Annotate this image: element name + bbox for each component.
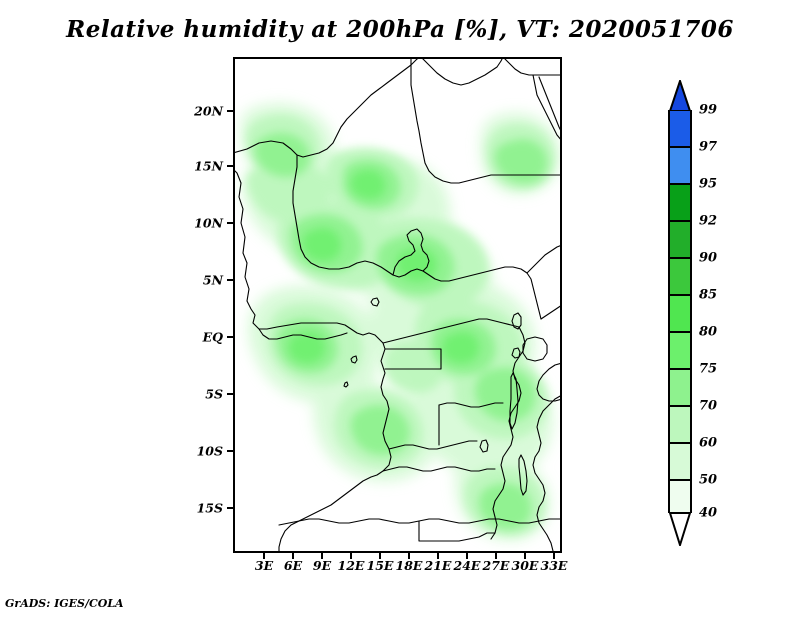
y-axis-label-20n: 20N [178,104,223,119]
y-tick [227,165,233,167]
x-axis-label-33e: 33E [532,558,576,573]
colorbar-band-60-70[interactable] [668,406,692,443]
y-tick [227,279,233,281]
credit-text: GrADS: IGES/COLA [5,597,124,610]
y-axis-label-eq: EQ [178,330,223,345]
y-axis-label-5s: 5S [178,387,223,402]
colorbar-band-75-80[interactable] [668,332,692,369]
colorbar-band-97-99[interactable] [668,110,692,147]
y-axis-label-15n: 15N [178,159,223,174]
y-tick [227,336,233,338]
colorbar-tick-40: 40 [699,506,717,521]
weather-map-figure: Relative humidity at 200hPa [%], VT: 202… [0,0,800,618]
colorbar-tick-97: 97 [699,140,717,155]
colorbar-tick-75: 75 [699,362,717,377]
y-axis-label-5n: 5N [178,273,223,288]
colorbar-band-85-90[interactable] [668,258,692,295]
colorbar-top-arrow-icon [668,80,692,112]
colorbar-tick-99: 99 [699,103,717,118]
colorbar-band-70-75[interactable] [668,369,692,406]
colorbar-band-40-50[interactable] [668,480,692,513]
colorbar-tick-95: 95 [699,177,717,192]
y-axis-label-10s: 10S [178,444,223,459]
colorbar-tick-70: 70 [699,399,717,414]
y-tick [227,507,233,509]
colorbar[interactable]: 99 97 95 92 90 85 80 75 70 60 50 40 [668,80,692,545]
colorbar-tick-80: 80 [699,325,717,340]
y-axis-label-15s: 15S [178,501,223,516]
colorbar-bottom-arrow-icon [668,512,692,546]
colorbar-band-80-85[interactable] [668,295,692,332]
colorbar-tick-50: 50 [699,473,717,488]
colorbar-band-90-92[interactable] [668,221,692,258]
colorbar-band-92-95[interactable] [668,184,692,221]
y-tick [227,393,233,395]
map-plot-area[interactable] [233,57,562,553]
colorbar-tick-90: 90 [699,251,717,266]
colorbar-band-95-97[interactable] [668,147,692,184]
y-tick [227,222,233,224]
coastline-and-border-layer [233,57,562,553]
page-title: Relative humidity at 200hPa [%], VT: 202… [0,16,800,43]
y-tick [227,450,233,452]
y-axis-label-10n: 10N [178,216,223,231]
colorbar-band-50-60[interactable] [668,443,692,480]
colorbar-tick-85: 85 [699,288,717,303]
colorbar-tick-92: 92 [699,214,717,229]
colorbar-tick-60: 60 [699,436,717,451]
y-tick [227,110,233,112]
